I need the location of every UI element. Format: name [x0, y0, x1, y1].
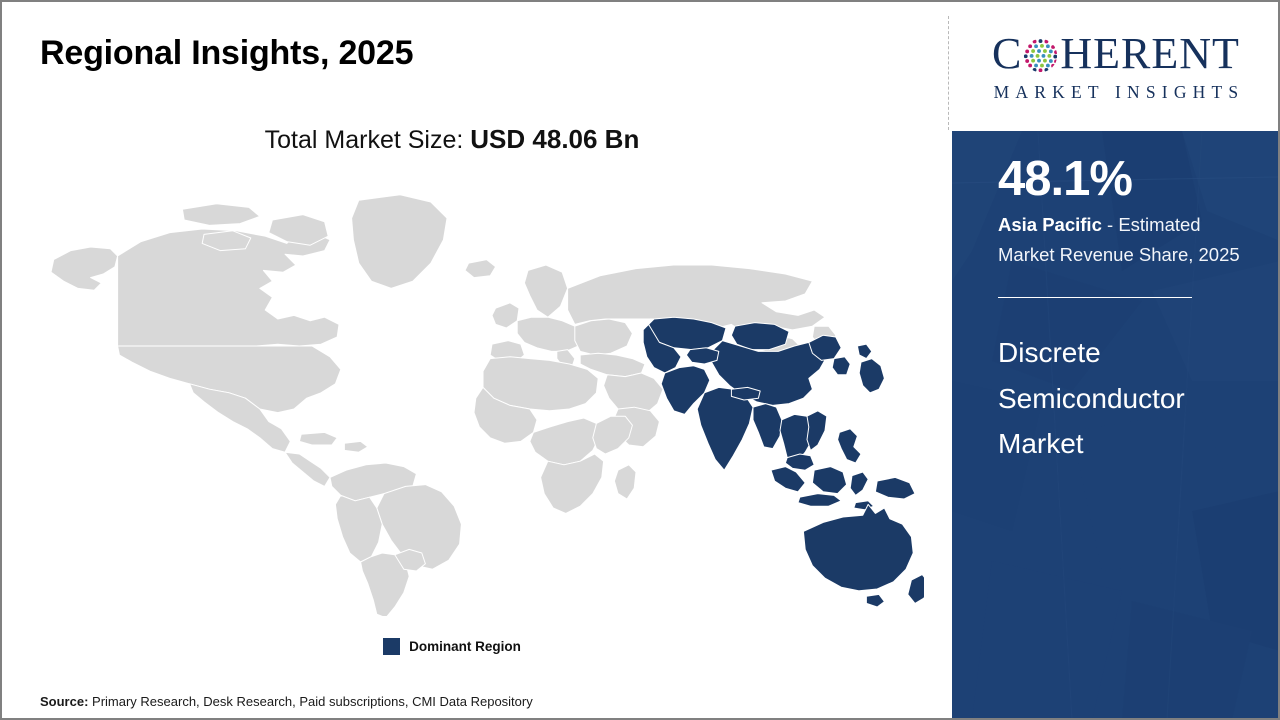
globe-dots-icon	[1022, 37, 1059, 74]
regional-insights-infographic: Regional Insights, 2025 Total Market Siz…	[0, 0, 1280, 720]
country-papua-new-guinea	[875, 477, 915, 499]
country-sulawesi	[850, 472, 868, 495]
world-map-svg	[24, 184, 924, 616]
country-scandinavia	[524, 265, 567, 317]
country-new-zealand-south	[908, 575, 924, 604]
country-java	[798, 494, 841, 507]
country-sumatra	[771, 467, 805, 492]
stat-content: 48.1% Asia Pacific - Estimated Market Re…	[998, 154, 1242, 466]
country-hispaniola	[344, 441, 367, 452]
country-eastern-europe	[575, 319, 633, 355]
country-greenland	[352, 195, 447, 289]
stat-description: Asia Pacific - Estimated Market Revenue …	[998, 210, 1242, 268]
country-kyrgyzstan-tajikistan	[686, 348, 718, 364]
country-australia	[803, 504, 913, 590]
stat-panel: 48.1% Asia Pacific - Estimated Market Re…	[952, 131, 1280, 720]
country-peru-bolivia	[335, 495, 382, 562]
vertical-divider	[948, 16, 949, 130]
country-tasmania	[866, 594, 884, 607]
source-label: Source:	[40, 694, 88, 709]
country-southern-africa	[541, 454, 604, 513]
stat-market-name: Discrete Semiconductor Market	[998, 330, 1242, 466]
logo-wordmark: C	[992, 32, 1240, 76]
country-bangladesh-myanmar	[753, 404, 782, 449]
total-market-size: Total Market Size: USD 48.06 Bn	[2, 124, 902, 155]
company-logo: C	[952, 4, 1280, 130]
stat-divider-rule	[998, 297, 1192, 299]
left-content-panel: Regional Insights, 2025 Total Market Siz…	[2, 2, 950, 718]
logo-letter-c: C	[992, 32, 1022, 76]
stat-region-name: Asia Pacific	[998, 214, 1102, 235]
legend-label-dominant-region: Dominant Region	[409, 639, 521, 654]
country-vietnam	[807, 411, 827, 451]
country-nepal-bhutan	[731, 387, 760, 400]
country-cuba	[299, 432, 337, 445]
stat-percentage: 48.1%	[998, 154, 1242, 205]
country-alaska	[51, 247, 118, 290]
source-text: Primary Research, Desk Research, Paid su…	[88, 694, 532, 709]
country-japan	[857, 344, 871, 358]
country-arctic-islands	[182, 204, 259, 226]
world-map	[24, 184, 924, 616]
country-uk-ireland	[492, 303, 519, 328]
page-title: Regional Insights, 2025	[40, 34, 413, 73]
country-east-africa	[593, 416, 633, 454]
country-madagascar	[614, 465, 636, 499]
country-malaysia	[785, 454, 814, 470]
map-legend: Dominant Region	[2, 638, 902, 655]
country-borneo	[812, 467, 846, 494]
country-koreas	[832, 357, 850, 375]
country-western-europe	[517, 317, 582, 351]
country-philippines	[838, 429, 861, 463]
legend-swatch-dominant-region	[383, 638, 400, 655]
source-note: Source: Primary Research, Desk Research,…	[40, 694, 533, 709]
country-japan-honshu	[859, 359, 884, 393]
logo-letters-herent: HERENT	[1060, 32, 1240, 76]
market-size-value: USD 48.06 Bn	[470, 124, 639, 154]
country-central-america	[285, 452, 330, 486]
logo-subtitle: MARKET INSIGHTS	[988, 82, 1245, 103]
country-iceland	[465, 260, 496, 278]
map-highlighted-asia-pacific	[643, 317, 924, 607]
market-size-prefix: Total Market Size:	[265, 126, 471, 154]
